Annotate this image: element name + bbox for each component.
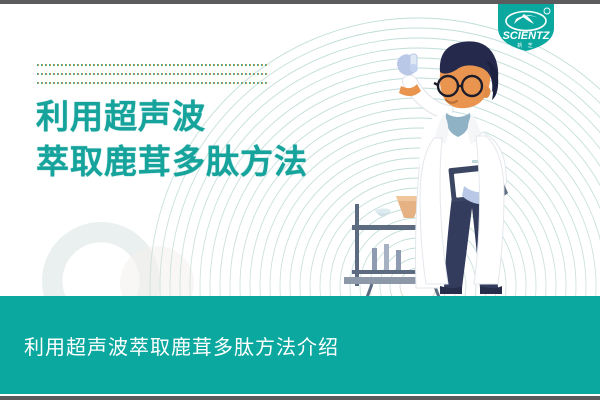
logo-subtext: 新 芝 xyxy=(517,42,534,49)
headline-line-2: 萃取鹿茸多肽方法 xyxy=(36,143,308,182)
top-edge-bar xyxy=(0,0,600,4)
logo-wordmark: SCIENTZ xyxy=(502,30,550,42)
bottom-banner: 利用超声波萃取鹿茸多肽方法介绍 xyxy=(0,296,600,394)
scientz-logo[interactable]: SCIENTZ 新 芝 xyxy=(494,2,558,52)
bottom-edge-bar xyxy=(0,396,600,400)
poster-canvas: 利用超声波 萃取鹿茸多肽方法 xyxy=(0,0,600,400)
headline-line-1: 利用超声波 xyxy=(36,98,308,137)
banner-caption: 利用超声波萃取鹿茸多肽方法介绍 xyxy=(0,331,339,360)
head xyxy=(434,41,498,108)
dot-grid-decoration xyxy=(37,64,269,90)
page-title: 利用超声波 萃取鹿茸多肽方法 xyxy=(36,98,308,182)
